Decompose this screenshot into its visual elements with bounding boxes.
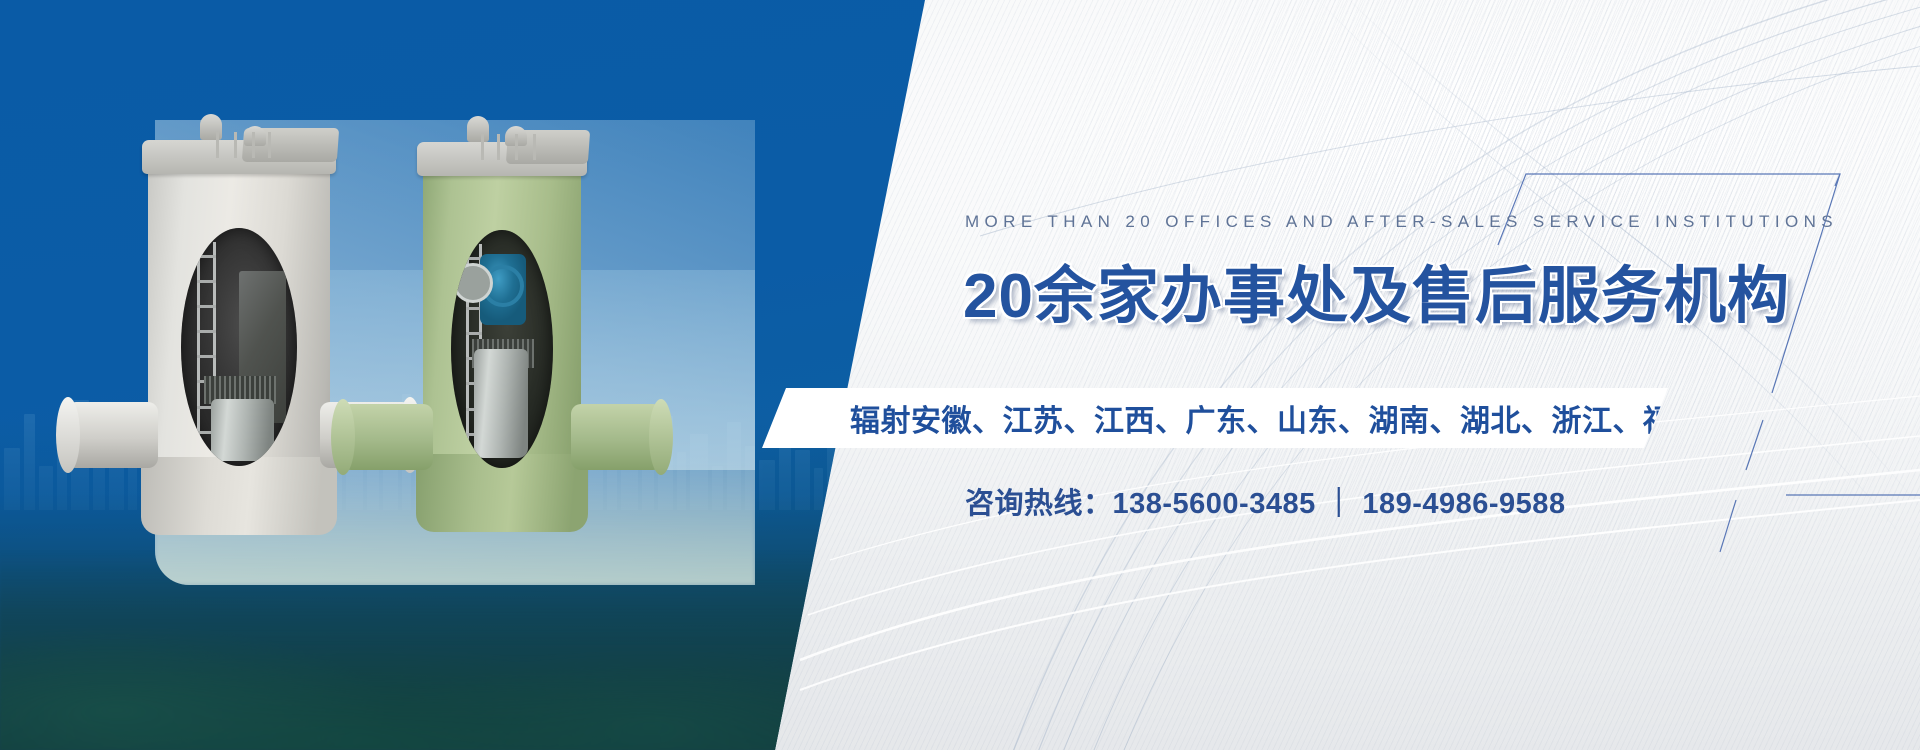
- product-unit-grey-pumping-station: [148, 110, 330, 535]
- product-unit-green-pumping-station: [423, 112, 581, 532]
- diagonal-hatch-accent: [937, 0, 1920, 705]
- stainless-drum: [474, 349, 529, 458]
- eyebrow-english-tagline: MORE THAN 20 OFFICES AND AFTER-SALES SER…: [965, 212, 1838, 232]
- coverage-band: 辐射安徽、江苏、江西、广东、山东、湖南、湖北、浙江、福建等多个省份: [762, 388, 1668, 448]
- hotline-text: 咨询热线：138-5600-3485 ｜ 189-4986-9588: [965, 480, 1566, 522]
- cutaway-window-green: [451, 230, 552, 468]
- cutaway-window-grey: [181, 228, 297, 466]
- promo-banner: MORE THAN 20 OFFICES AND AFTER-SALES SER…: [0, 0, 1920, 750]
- page-title: 20余家办事处及售后服务机构: [963, 245, 1790, 335]
